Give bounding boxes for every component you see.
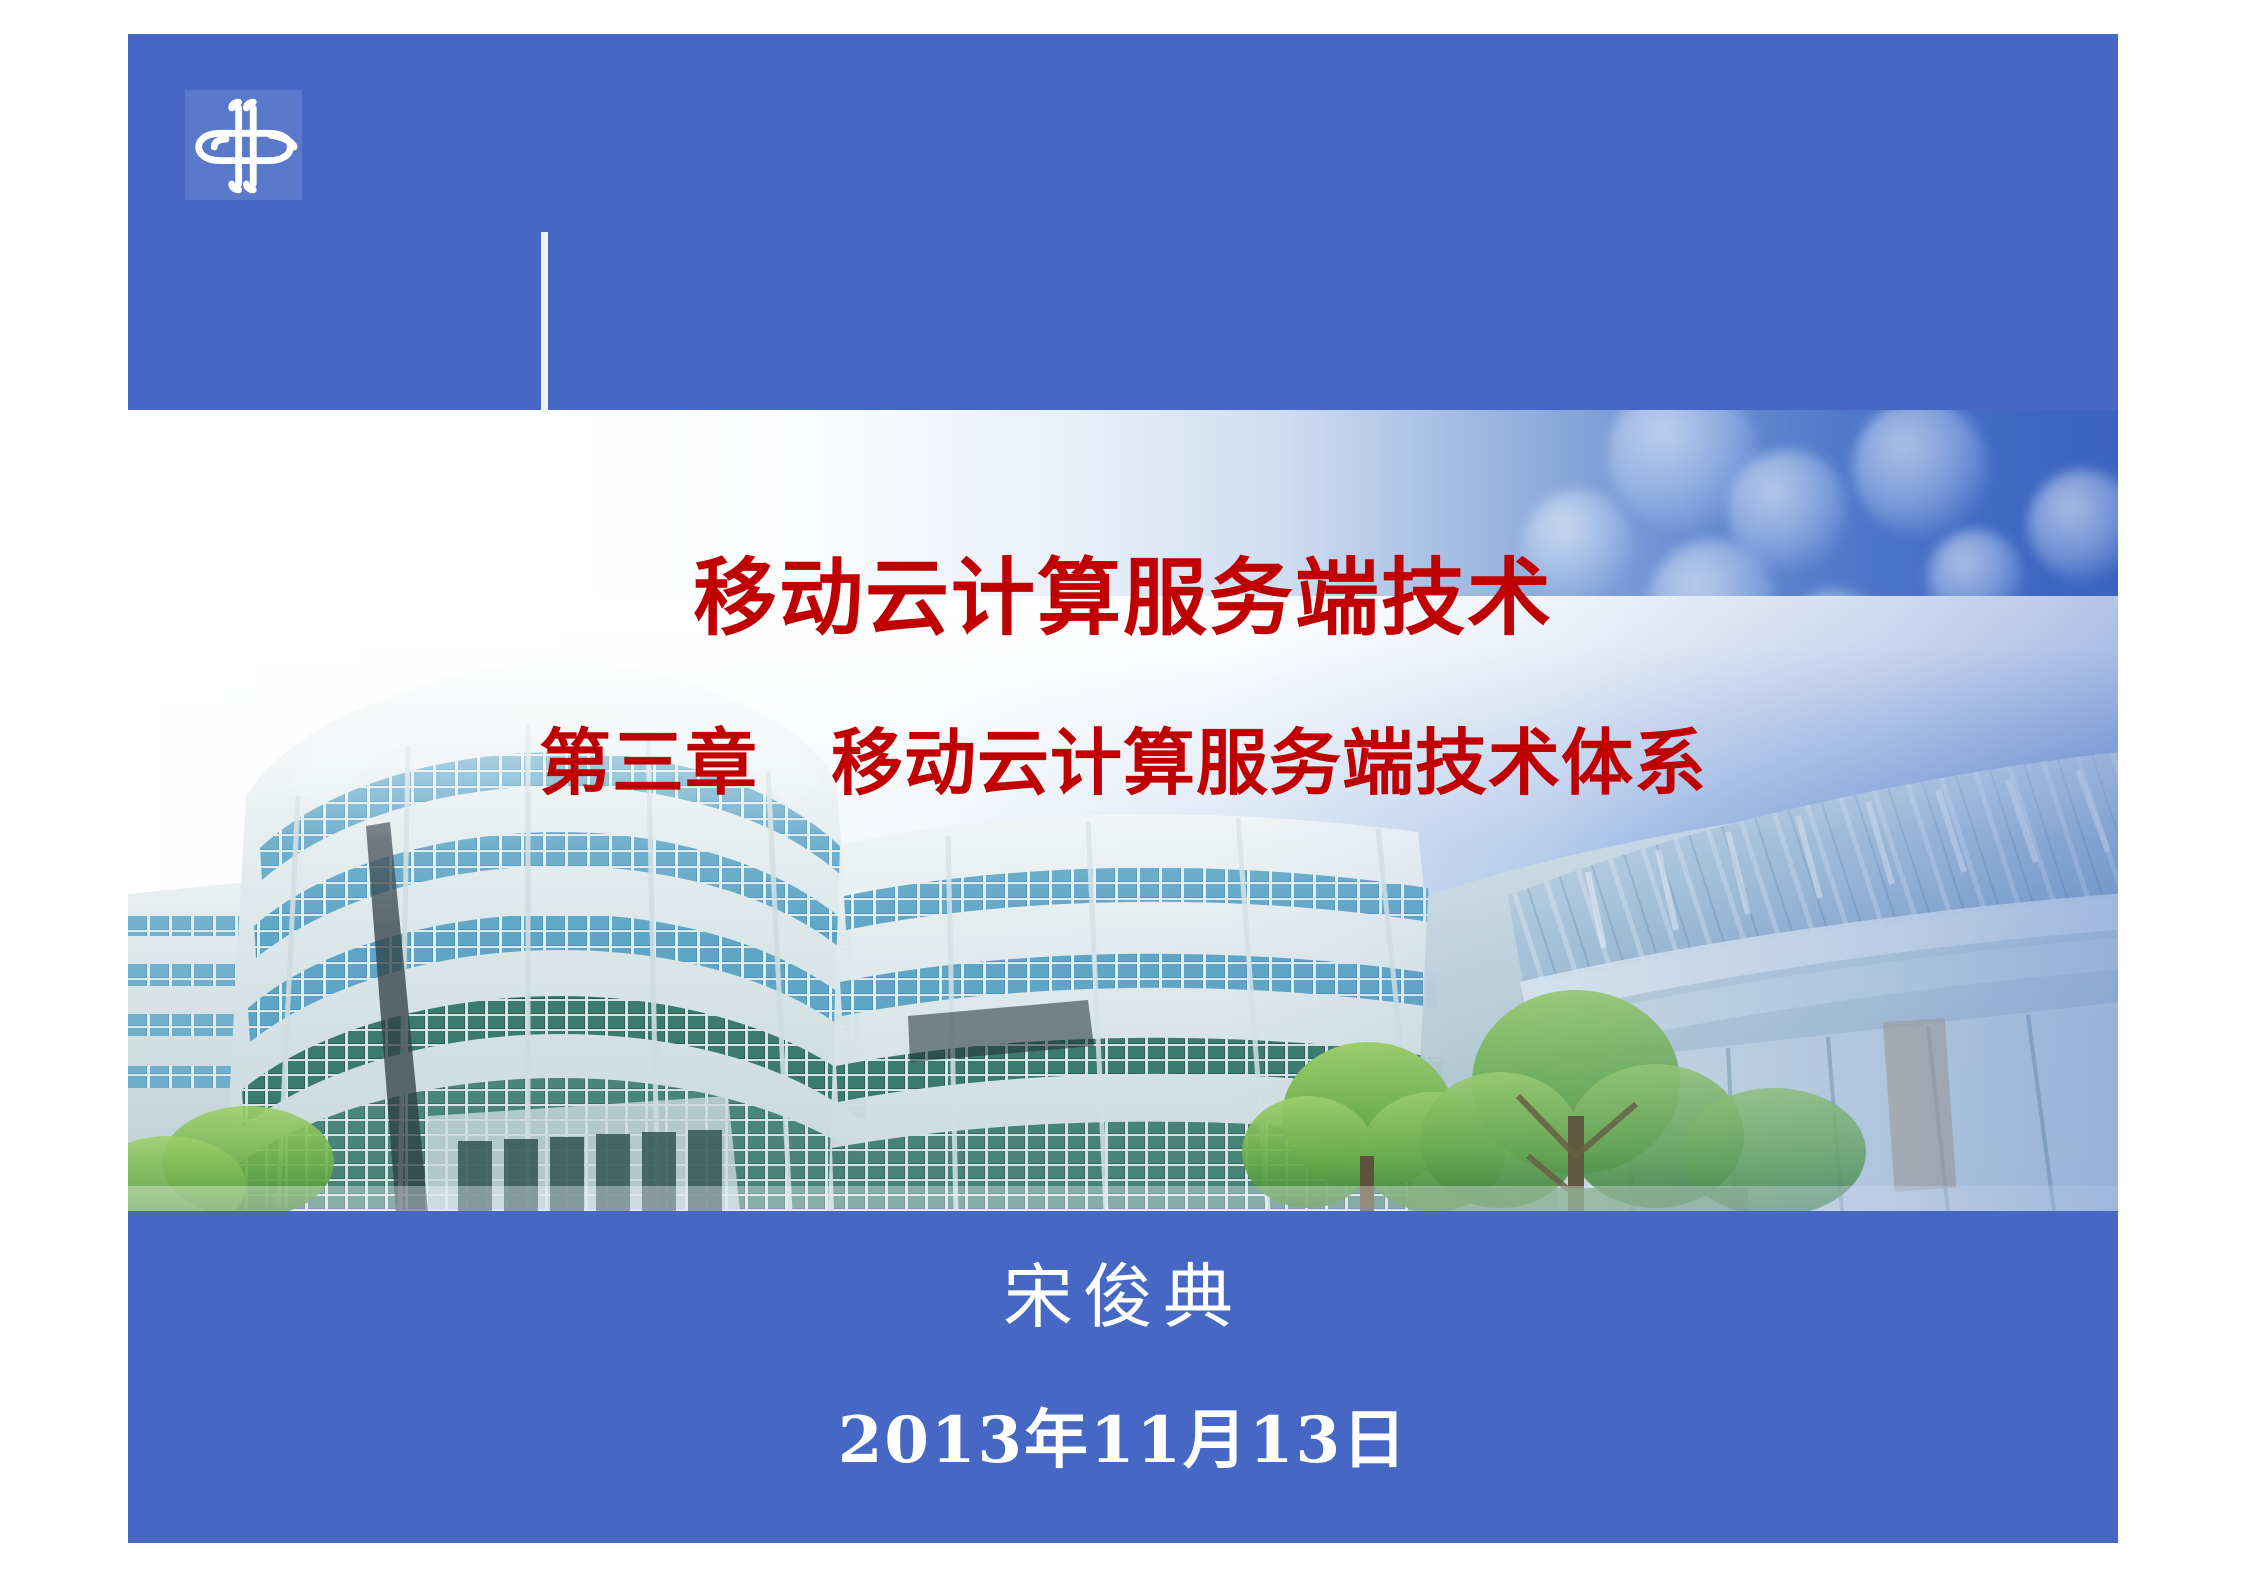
title-block: 移动云计算服务端技术 [128, 554, 2118, 642]
header-vertical-rule [541, 232, 548, 412]
subtitle-block: 第三章 移动云计算服务端技术体系 [128, 726, 2118, 802]
building-illustration [128, 596, 2118, 1211]
logo-container [185, 90, 302, 200]
header-band [128, 34, 2118, 410]
institute-logo-icon [185, 90, 302, 200]
presentation-date: 2013年11月13日 [128, 1409, 2118, 1473]
presentation-slide: 移动云计算服务端技术 第三章 移动云计算服务端技术体系 宋俊典 2013年11月… [128, 34, 2118, 1543]
chapter-subtitle: 第三章 移动云计算服务端技术体系 [128, 726, 2118, 802]
date-block: 2013年11月13日 [128, 1409, 2118, 1473]
author-name: 宋俊典 [128, 1262, 2118, 1332]
page-title: 移动云计算服务端技术 [128, 554, 2118, 642]
bokeh-circle [1853, 410, 1988, 535]
campus-building-photo [128, 596, 2118, 1211]
author-block: 宋俊典 [128, 1262, 2118, 1332]
slide-canvas: 移动云计算服务端技术 第三章 移动云计算服务端技术体系 宋俊典 2013年11月… [0, 0, 2246, 1593]
